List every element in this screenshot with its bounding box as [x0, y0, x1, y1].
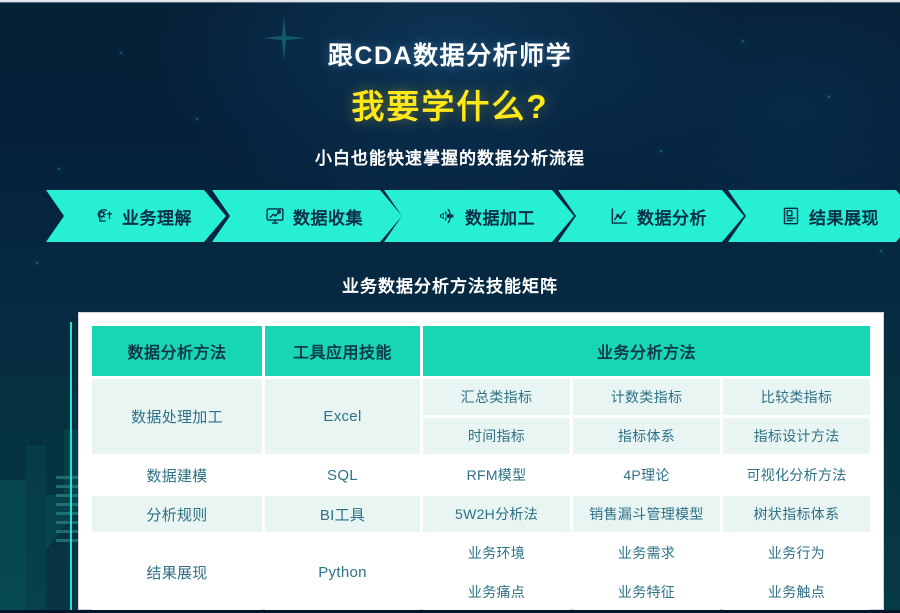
- node-network-icon: [437, 206, 457, 226]
- skills-matrix-table: 数据分析方法 工具应用技能 业务分析方法 数据处理加工 Excel 汇总类指标 …: [89, 323, 873, 613]
- cell-tool: BI工具: [265, 496, 420, 532]
- table-row: 数据建模 SQL RFM模型 4P理论 可视化分析方法: [92, 457, 870, 493]
- page-title-block: 跟CDA数据分析师学 我要学什么?: [0, 36, 900, 128]
- particle-dot: [36, 262, 38, 264]
- cell-tool: Excel: [265, 379, 420, 454]
- cell-method: 结果展现: [92, 535, 262, 610]
- monitor-chart-icon: [265, 206, 285, 226]
- cell-business: 4P理论: [573, 457, 720, 493]
- cell-method: 数据建模: [92, 457, 262, 493]
- cell-business: 5W2H分析法: [423, 496, 570, 532]
- process-flow: 业务理解 数据收集 数据加工 数据: [46, 190, 858, 242]
- cell-business: 树状指标体系: [723, 496, 870, 532]
- flow-step-2[interactable]: 数据收集: [212, 190, 402, 242]
- column-header-business: 业务分析方法: [423, 326, 870, 376]
- cell-business: 时间指标: [423, 418, 570, 454]
- column-header-tool: 工具应用技能: [265, 326, 420, 376]
- table-row: 分析规则 BI工具 5W2H分析法 销售漏斗管理模型 树状指标体系: [92, 496, 870, 532]
- flow-step-4-label: 数据分析: [637, 204, 707, 229]
- column-header-method: 数据分析方法: [92, 326, 262, 376]
- cell-business: 计数类指标: [573, 379, 720, 415]
- cell-business: 比较类指标: [723, 379, 870, 415]
- cell-business: RFM模型: [423, 457, 570, 493]
- cell-business: 销售漏斗管理模型: [573, 496, 720, 532]
- page-title-highlight: 我要学什么?: [0, 80, 900, 128]
- flow-step-2-label: 数据收集: [293, 204, 363, 229]
- flow-step-3-label: 数据加工: [465, 204, 535, 229]
- cell-business: 业务触点: [723, 574, 870, 610]
- flow-step-5[interactable]: 结果展现: [728, 190, 900, 242]
- cell-business: 业务特征: [573, 574, 720, 610]
- skills-matrix-panel: 数据分析方法 工具应用技能 业务分析方法 数据处理加工 Excel 汇总类指标 …: [78, 312, 884, 610]
- particle-dot: [880, 250, 882, 252]
- page-subtitle: 小白也能快速掌握的数据分析流程: [0, 144, 900, 169]
- flow-step-4[interactable]: 数据分析: [558, 190, 744, 242]
- page-title-primary: 跟CDA数据分析师学: [0, 36, 900, 72]
- accent-vertical-line: [70, 322, 72, 610]
- cell-business: 指标体系: [573, 418, 720, 454]
- flow-step-1-label: 业务理解: [122, 204, 192, 229]
- report-document-icon: [781, 206, 801, 226]
- flow-step-5-label: 结果展现: [809, 204, 879, 229]
- flow-step-1[interactable]: 业务理解: [46, 190, 226, 242]
- head-brain-icon: [94, 206, 114, 226]
- cell-method: 数据处理加工: [92, 379, 262, 454]
- table-header-row: 数据分析方法 工具应用技能 业务分析方法: [92, 326, 870, 376]
- cell-method: 分析规则: [92, 496, 262, 532]
- line-chart-icon: [609, 206, 629, 226]
- top-hairline: [0, 0, 900, 3]
- table-row: 结果展现 Python 业务环境 业务需求 业务行为: [92, 535, 870, 571]
- cell-tool: Python: [265, 535, 420, 610]
- cell-business: 业务痛点: [423, 574, 570, 610]
- flow-step-3[interactable]: 数据加工: [384, 190, 574, 242]
- table-row: 数据处理加工 Excel 汇总类指标 计数类指标 比较类指标: [92, 379, 870, 415]
- cell-business: 指标设计方法: [723, 418, 870, 454]
- cell-business: 可视化分析方法: [723, 457, 870, 493]
- matrix-section-title: 业务数据分析方法技能矩阵: [0, 272, 900, 297]
- cell-business: 业务行为: [723, 535, 870, 571]
- cell-tool: SQL: [265, 457, 420, 493]
- cell-business: 业务环境: [423, 535, 570, 571]
- cell-business: 业务需求: [573, 535, 720, 571]
- cell-business: 汇总类指标: [423, 379, 570, 415]
